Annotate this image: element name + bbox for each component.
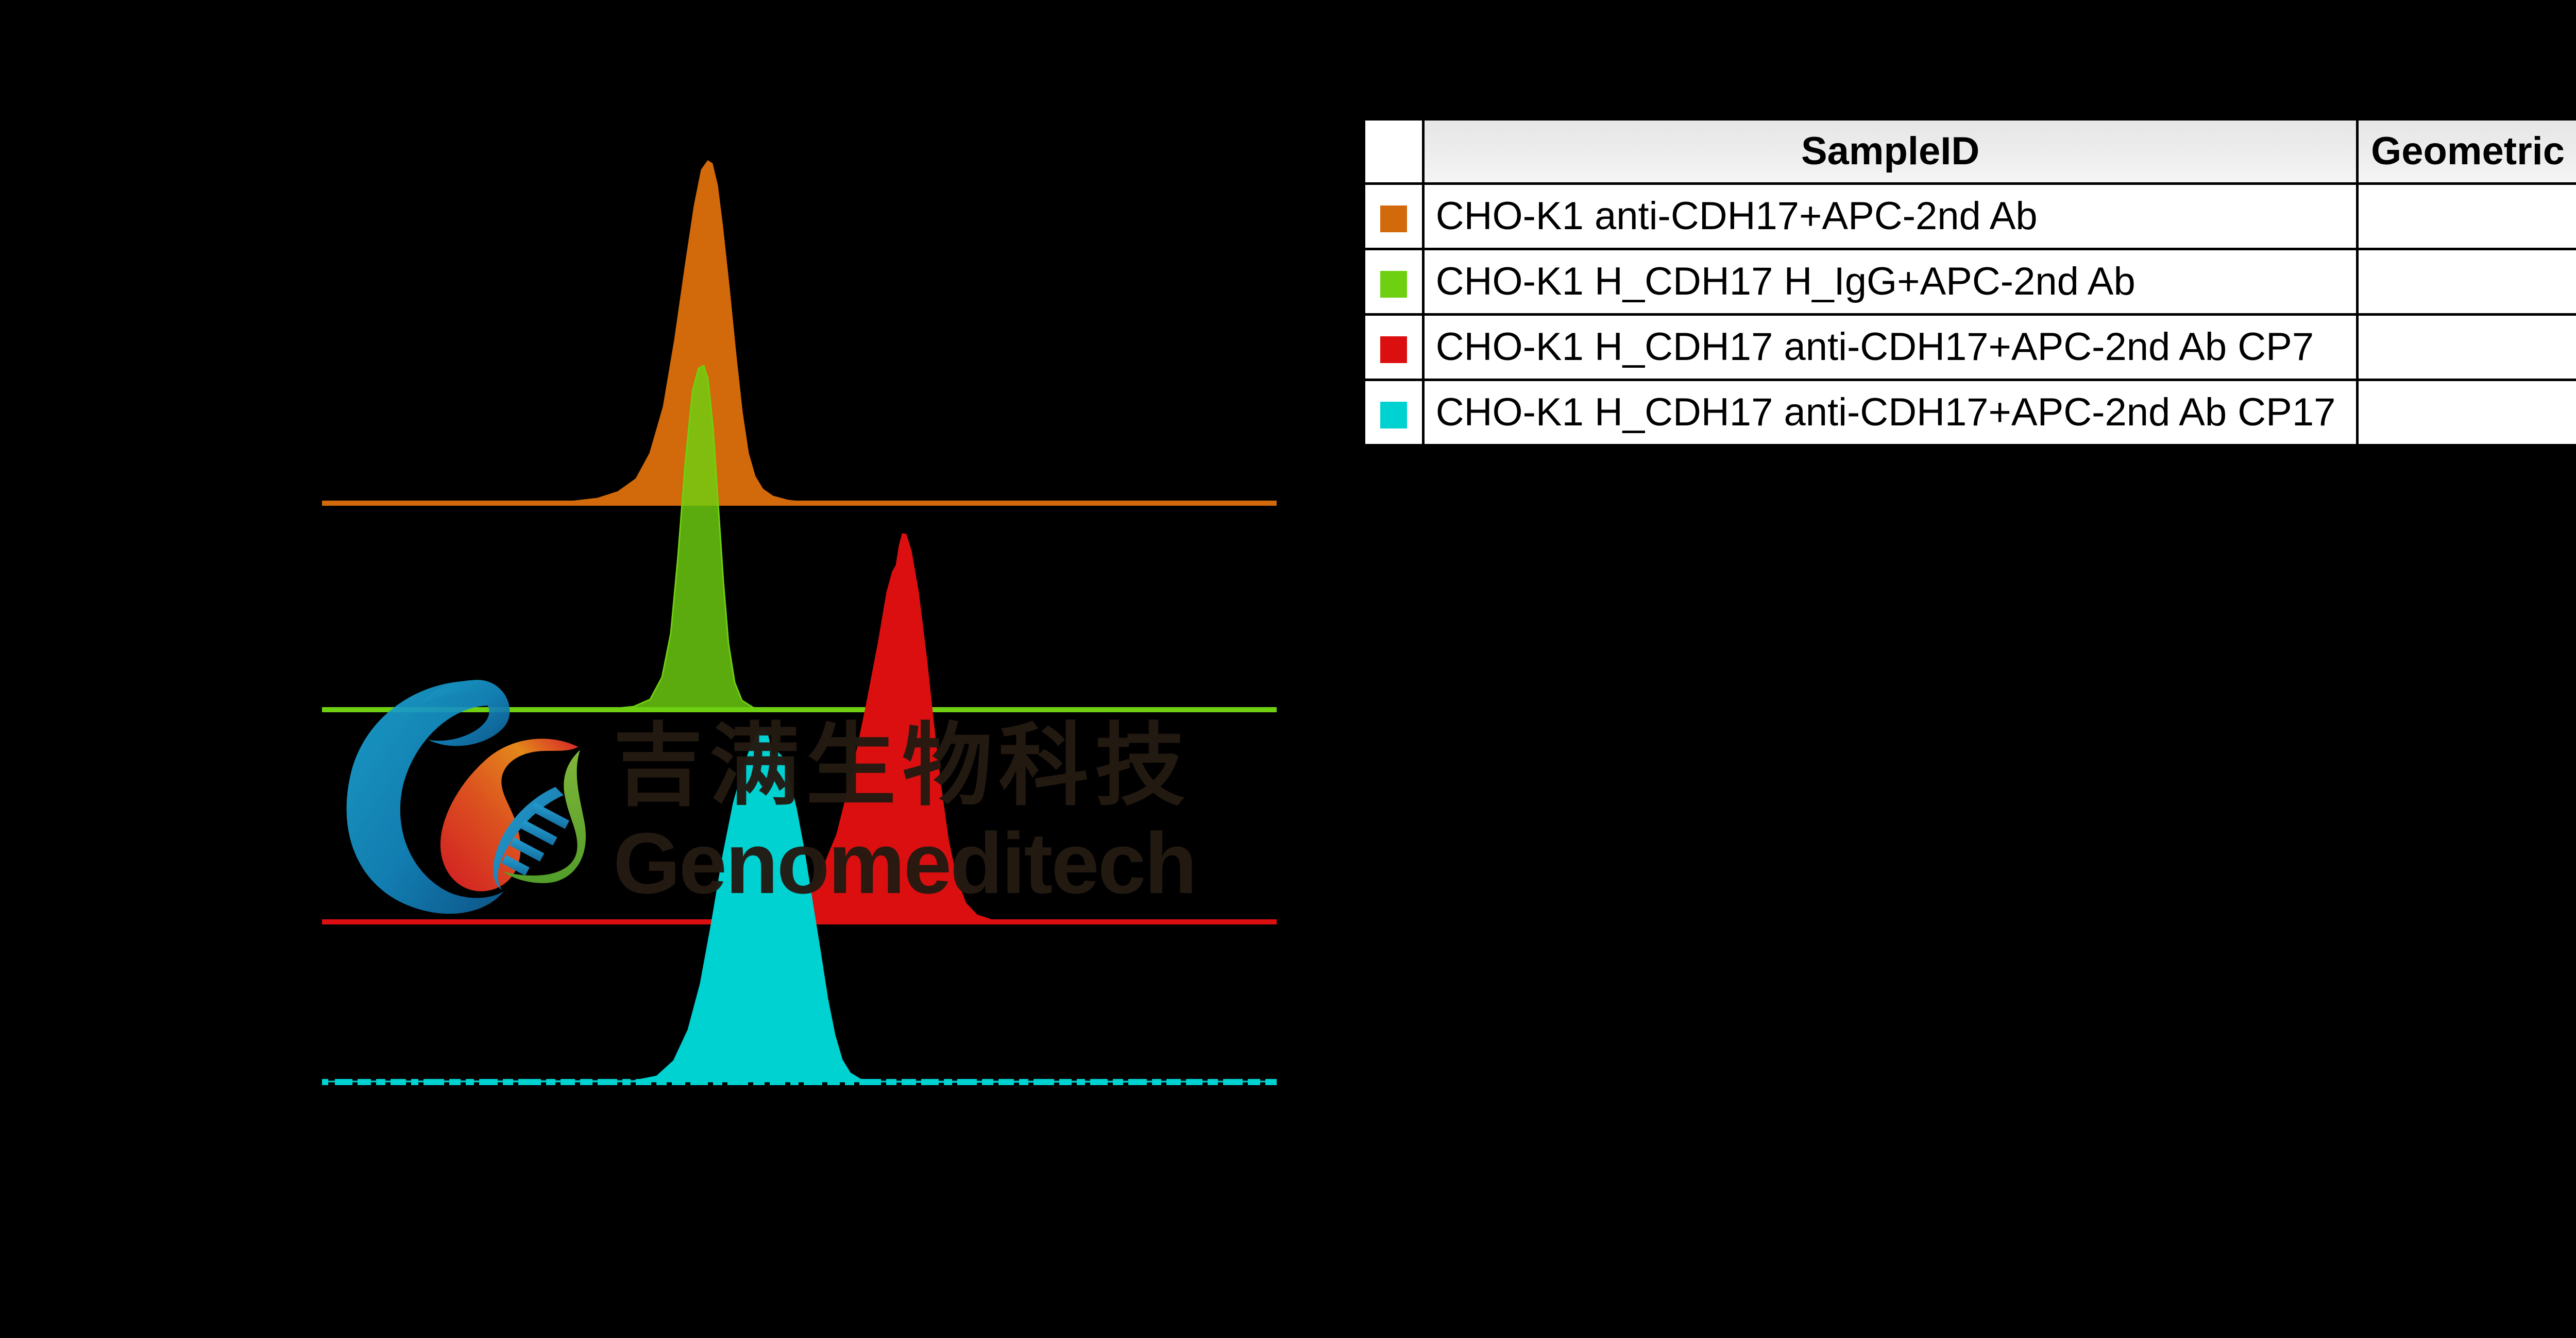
table-row[interactable]: CHO-K1 H_CDH17 anti-CDH17+APC-2nd Ab CP7… bbox=[1364, 315, 2576, 380]
table-header-row: SampleID Geometric Mean : FL11-H bbox=[1364, 119, 2576, 184]
table-row[interactable]: CHO-K1 H_CDH17 anti-CDH17+APC-2nd Ab CP1… bbox=[1364, 380, 2576, 446]
series-green-fill bbox=[322, 366, 1277, 710]
row-sample-id: CHO-K1 H_CDH17 anti-CDH17+APC-2nd Ab CP1… bbox=[1423, 380, 2358, 446]
series-orange-baseline bbox=[322, 501, 1277, 506]
header-geometric-mean: Geometric Mean : FL11-H bbox=[2358, 119, 2576, 184]
table-row[interactable]: CHO-K1 anti-CDH17+APC-2nd Ab 1808 bbox=[1364, 184, 2576, 249]
table-body: CHO-K1 anti-CDH17+APC-2nd Ab 1808 CHO-K1… bbox=[1364, 184, 2576, 446]
series-cyan bbox=[322, 729, 1277, 1085]
row-color-swatch-cell bbox=[1364, 249, 1423, 315]
color-swatch-green bbox=[1380, 271, 1407, 298]
color-swatch-orange bbox=[1380, 205, 1407, 232]
series-green bbox=[322, 366, 1277, 712]
flow-cytometry-histogram bbox=[0, 0, 1350, 1338]
row-color-swatch-cell bbox=[1364, 380, 1423, 446]
header-sample-id: SampleID bbox=[1423, 119, 2358, 184]
series-green-baseline bbox=[322, 707, 1277, 712]
statistics-table-container: SampleID Geometric Mean : FL11-H CHO-K1 … bbox=[1362, 117, 2576, 447]
row-sample-id: CHO-K1 H_CDH17 anti-CDH17+APC-2nd Ab CP7 bbox=[1423, 315, 2358, 380]
series-cyan-fill bbox=[322, 729, 1277, 1082]
color-swatch-cyan bbox=[1380, 402, 1407, 428]
series-orange-fill bbox=[322, 161, 1277, 503]
statistics-table: SampleID Geometric Mean : FL11-H CHO-K1 … bbox=[1362, 117, 2576, 447]
row-geometric-mean: 69446 bbox=[2358, 315, 2576, 380]
row-color-swatch-cell bbox=[1364, 315, 1423, 380]
series-orange bbox=[322, 161, 1277, 506]
color-swatch-red bbox=[1380, 336, 1407, 363]
row-color-swatch-cell bbox=[1364, 184, 1423, 249]
row-geometric-mean: 1808 bbox=[2358, 184, 2576, 249]
row-geometric-mean: 7141 bbox=[2358, 380, 2576, 446]
row-sample-id: CHO-K1 anti-CDH17+APC-2nd Ab bbox=[1423, 184, 2358, 249]
row-geometric-mean: 1533 bbox=[2358, 249, 2576, 315]
table-row[interactable]: CHO-K1 H_CDH17 H_IgG+APC-2nd Ab 1533 bbox=[1364, 249, 2576, 315]
header-swatch-corner bbox=[1364, 119, 1423, 184]
row-sample-id: CHO-K1 H_CDH17 H_IgG+APC-2nd Ab bbox=[1423, 249, 2358, 315]
histogram-panel: 吉满生物科技 Genomeditech bbox=[0, 0, 1350, 1338]
